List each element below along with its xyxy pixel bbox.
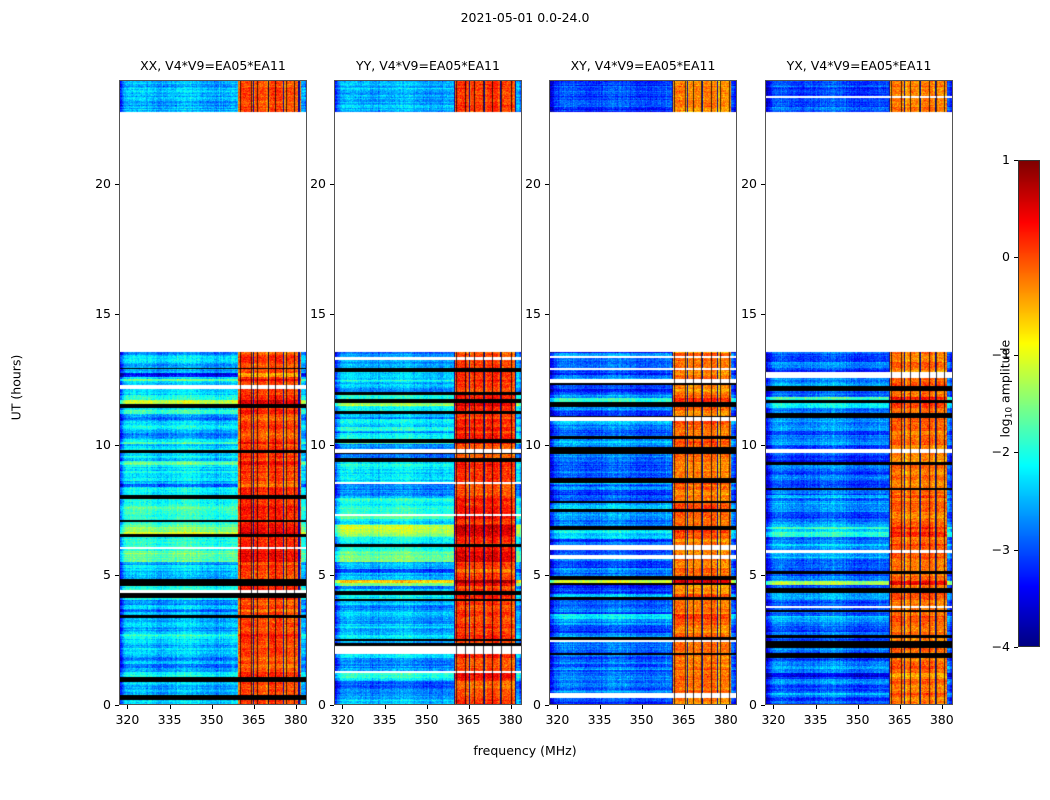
colorbar-label: log10 amplitude [997, 299, 1014, 479]
colorbar[interactable] [1018, 160, 1040, 647]
x-tick-label: 380 [491, 712, 531, 727]
x-tick-mark [726, 705, 727, 709]
x-tick-label: 350 [622, 712, 662, 727]
x-tick-mark [212, 705, 213, 709]
x-tick-mark [342, 705, 343, 709]
x-tick-mark [600, 705, 601, 709]
x-tick-label: 350 [407, 712, 447, 727]
y-tick-mark [761, 445, 765, 446]
figure-title: 2021-05-01 0.0-24.0 [0, 10, 1050, 25]
x-tick-label: 320 [753, 712, 793, 727]
x-tick-mark [296, 705, 297, 709]
y-tick-mark [115, 705, 119, 706]
y-tick-mark [545, 184, 549, 185]
x-tick-mark [557, 705, 558, 709]
x-tick-label: 335 [796, 712, 836, 727]
colorbar-label-suffix: amplitude [997, 340, 1012, 407]
x-tick-label: 320 [322, 712, 362, 727]
panel-title-xx: XX, V4*V9=EA05*EA11 [119, 58, 307, 73]
y-tick-mark [545, 575, 549, 576]
x-tick-label: 350 [838, 712, 878, 727]
x-tick-label: 335 [580, 712, 620, 727]
y-tick-label: 15 [515, 306, 541, 321]
x-tick-mark [773, 705, 774, 709]
x-tick-label: 380 [706, 712, 746, 727]
y-tick-label: 5 [515, 567, 541, 582]
y-tick-label: 20 [85, 176, 111, 191]
y-tick-label: 0 [300, 697, 326, 712]
x-tick-label: 320 [537, 712, 577, 727]
x-tick-mark [900, 705, 901, 709]
x-tick-mark [642, 705, 643, 709]
x-tick-mark [942, 705, 943, 709]
y-tick-mark [330, 575, 334, 576]
x-tick-mark [816, 705, 817, 709]
x-tick-mark [254, 705, 255, 709]
colorbar-gradient [1019, 161, 1040, 647]
x-tick-label: 320 [107, 712, 147, 727]
x-tick-label: 365 [449, 712, 489, 727]
y-tick-mark [761, 314, 765, 315]
x-tick-label: 380 [922, 712, 962, 727]
colorbar-tick-label: 0 [980, 249, 1010, 264]
waterfall-image-xy [550, 81, 737, 705]
y-tick-mark [761, 705, 765, 706]
x-tick-mark [170, 705, 171, 709]
panel-title-xy: XY, V4*V9=EA05*EA11 [549, 58, 737, 73]
y-tick-mark [761, 184, 765, 185]
y-tick-label: 0 [85, 697, 111, 712]
colorbar-tick-mark [1014, 647, 1018, 648]
panel-title-yx: YX, V4*V9=EA05*EA11 [765, 58, 953, 73]
y-tick-mark [330, 314, 334, 315]
x-tick-label: 365 [234, 712, 274, 727]
waterfall-figure: 2021-05-01 0.0-24.0 XX, V4*V9=EA05*EA11 … [0, 0, 1050, 800]
x-tick-label: 380 [276, 712, 316, 727]
x-tick-mark [127, 705, 128, 709]
x-tick-mark [469, 705, 470, 709]
y-tick-label: 15 [300, 306, 326, 321]
colorbar-label-subscript: 10 [1005, 407, 1015, 418]
y-tick-label: 15 [731, 306, 757, 321]
y-tick-label: 10 [731, 437, 757, 452]
y-tick-label: 0 [515, 697, 541, 712]
y-tick-mark [330, 184, 334, 185]
x-tick-label: 335 [150, 712, 190, 727]
x-axis-label: frequency (MHz) [0, 743, 1050, 758]
colorbar-tick-label: −3 [980, 542, 1010, 557]
waterfall-image-yy [335, 81, 522, 705]
waterfall-image-yx [766, 81, 953, 705]
y-tick-label: 20 [515, 176, 541, 191]
x-tick-mark [385, 705, 386, 709]
panel-title-yy: YY, V4*V9=EA05*EA11 [334, 58, 522, 73]
y-tick-label: 0 [731, 697, 757, 712]
y-tick-label: 5 [731, 567, 757, 582]
colorbar-tick-label: 1 [980, 152, 1010, 167]
waterfall-image-xx [120, 81, 307, 705]
waterfall-panel-xx[interactable] [119, 80, 307, 705]
y-tick-label: 5 [85, 567, 111, 582]
y-tick-mark [545, 705, 549, 706]
y-tick-mark [330, 445, 334, 446]
y-tick-mark [761, 575, 765, 576]
y-tick-label: 10 [300, 437, 326, 452]
x-tick-label: 365 [664, 712, 704, 727]
y-tick-mark [115, 445, 119, 446]
y-tick-mark [115, 575, 119, 576]
y-tick-mark [545, 314, 549, 315]
y-tick-mark [115, 314, 119, 315]
y-tick-mark [545, 445, 549, 446]
y-tick-label: 15 [85, 306, 111, 321]
x-tick-mark [684, 705, 685, 709]
y-tick-label: 20 [731, 176, 757, 191]
x-tick-mark [427, 705, 428, 709]
colorbar-label-prefix: log [997, 418, 1012, 437]
waterfall-panel-yx[interactable] [765, 80, 953, 705]
x-tick-label: 365 [880, 712, 920, 727]
y-tick-label: 20 [300, 176, 326, 191]
y-tick-label: 5 [300, 567, 326, 582]
x-tick-mark [858, 705, 859, 709]
y-tick-mark [330, 705, 334, 706]
x-tick-label: 350 [192, 712, 232, 727]
y-tick-mark [115, 184, 119, 185]
y-axis-label: UT (hours) [9, 328, 24, 448]
y-tick-label: 10 [515, 437, 541, 452]
waterfall-panel-yy[interactable] [334, 80, 522, 705]
x-tick-mark [511, 705, 512, 709]
waterfall-panel-xy[interactable] [549, 80, 737, 705]
y-tick-label: 10 [85, 437, 111, 452]
x-tick-label: 335 [365, 712, 405, 727]
colorbar-tick-label: −4 [980, 639, 1010, 654]
